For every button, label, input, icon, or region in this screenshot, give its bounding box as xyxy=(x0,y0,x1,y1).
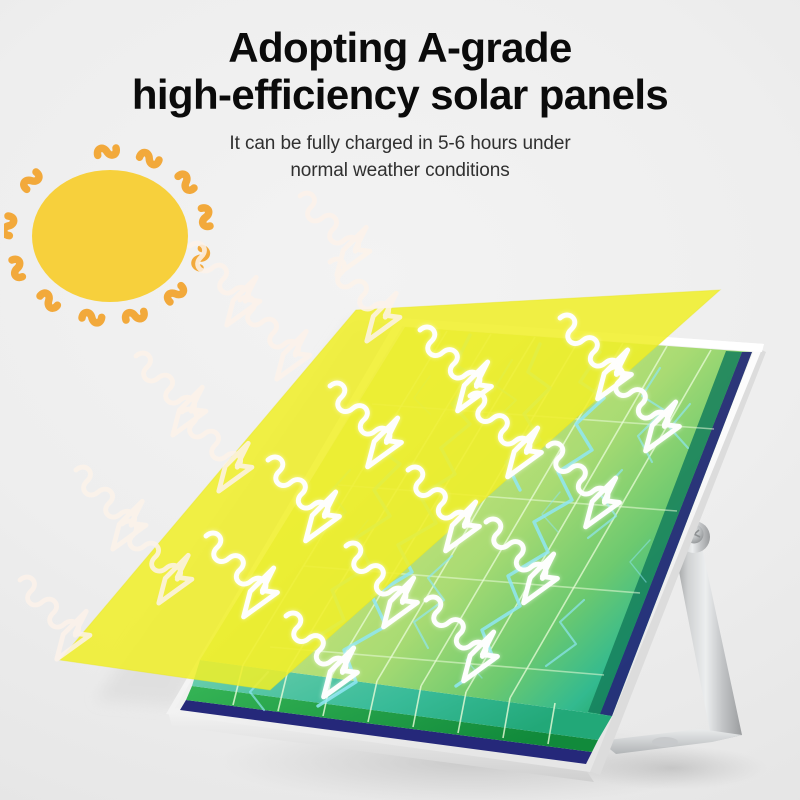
page-title: Adopting A-grade high-efficiency solar p… xyxy=(0,0,800,118)
kickstand-slot xyxy=(652,737,678,747)
subtitle-line-1: It can be fully charged in 5-6 hours und… xyxy=(229,133,570,154)
headline-line-2: high-efficiency solar panels xyxy=(0,71,800,118)
subtitle: It can be fully charged in 5-6 hours und… xyxy=(0,130,800,184)
subtitle-line-2: normal weather conditions xyxy=(290,160,509,181)
kickstand-leg xyxy=(676,538,742,742)
headline-line-1: Adopting A-grade xyxy=(228,24,571,71)
banner-stage: Adopting A-grade high-efficiency solar p… xyxy=(0,0,800,800)
text-block: Adopting A-grade high-efficiency solar p… xyxy=(0,0,800,184)
